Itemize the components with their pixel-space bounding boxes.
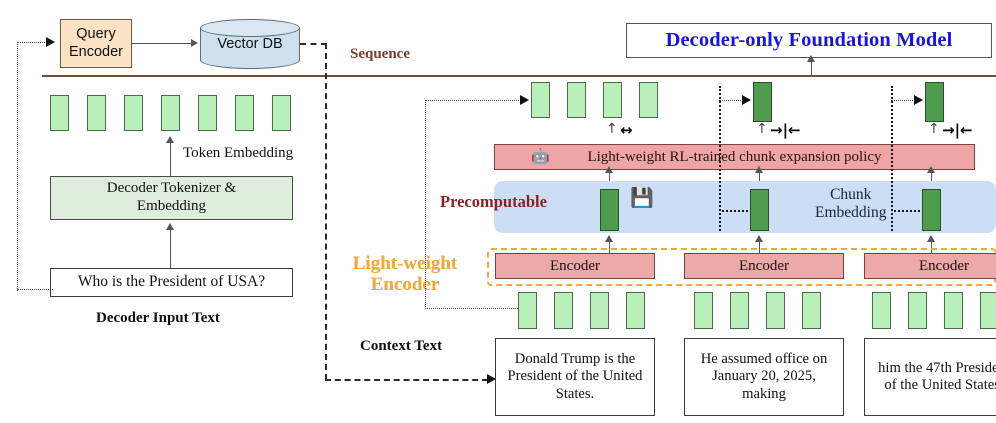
db-to-context-vertical: [325, 43, 327, 380]
query-encoder-box: Query Encoder: [60, 19, 132, 68]
token-embedding-label: Token Embedding: [183, 145, 293, 162]
decoder-token-4: [161, 95, 180, 131]
vector-db-cylinder: Vector DB: [200, 19, 300, 69]
contract-glyph-2: →|←: [770, 123, 801, 138]
context-token-2-2: [730, 292, 749, 329]
tokenizer-label-line2: Embedding: [107, 198, 236, 216]
arrow-input-up-head: [166, 223, 174, 230]
decoder-tokenizer-box: Decoder Tokenizer & Embedding: [50, 176, 293, 220]
chunk-embedding-label: Chunk Embedding: [815, 186, 886, 222]
ctx-to-sequence-dotted-1: [425, 100, 521, 101]
sequence-chunk-token-2: [753, 82, 772, 122]
context-token-1-4: [626, 292, 645, 329]
chunk-embedding-3: [922, 189, 941, 231]
arrow-enc2-to-chunk-head: [755, 235, 763, 242]
decoder-input-caption: Decoder Input Text: [96, 310, 220, 327]
decoder-input-text-box: Who is the President of USA?: [50, 268, 293, 297]
diagram-canvas: Query Encoder Vector DB Sequence Token E…: [0, 0, 996, 423]
context-text-box-2: He assumed office on January 20, 2025, m…: [684, 338, 844, 416]
context-token-1-1: [518, 292, 537, 329]
db-to-context-bottom: [325, 379, 488, 381]
lwe-bracket-bottom: [425, 308, 520, 309]
context-token-2-3: [766, 292, 785, 329]
ctx-to-sequence-dotted-3: [891, 100, 915, 101]
encoder-box-3: Encoder: [864, 253, 996, 279]
context-token-1-3: [590, 292, 609, 329]
arrow-enc3-to-chunk-head: [927, 235, 935, 242]
arrow-chunk3-to-policy-head: [927, 166, 935, 173]
arrow-enc1-to-chunk-head: [605, 235, 613, 242]
context-token-3-4: [980, 292, 996, 329]
feedback-loop-arrowhead: [46, 37, 55, 47]
lightweight-encoder-label: Light-weight Encoder: [330, 253, 480, 296]
arrow-input-up-line: [170, 228, 171, 270]
chunk-separator-2: [891, 86, 893, 231]
db-to-context-top: [300, 43, 327, 45]
context-text-box-1: Donald Trump is the President of the Uni…: [495, 338, 655, 416]
expand-glyph-1: ↔: [620, 123, 633, 138]
chunk-embedding-label-line1: Chunk: [815, 186, 886, 204]
feedback-loop-bottom: [17, 289, 53, 290]
feedback-loop-vertical: [17, 42, 18, 291]
context-token-3-1: [872, 292, 891, 329]
chunk-expansion-policy-bar: Light-weight RL-trained chunk expansion …: [494, 144, 975, 170]
lightweight-encoder-label-line2: Encoder: [330, 274, 480, 295]
arrow-sequence-to-model-head: [807, 55, 815, 62]
arrow-chunk1-to-policy-head: [605, 166, 613, 173]
query-encoder-label-line1: Query: [69, 26, 123, 43]
chunk-ellipsis-1: [722, 210, 748, 212]
ctx-to-sequence-arrow-3: [914, 95, 923, 105]
decoder-token-3: [124, 95, 143, 131]
decoder-token-7: [272, 95, 291, 131]
policy-arrow-up-3: ↑: [928, 122, 940, 136]
ctx-to-sequence-dotted-2: [719, 100, 743, 101]
arrow-query-to-db-head: [191, 39, 198, 47]
ctx-to-sequence-arrow-1: [520, 95, 529, 105]
vector-db-label: Vector DB: [200, 19, 300, 69]
decoder-token-5: [198, 95, 217, 131]
arrow-query-to-db-line: [132, 43, 192, 44]
foundation-model-title-box: Decoder-only Foundation Model: [626, 23, 992, 58]
arrow-tokenizer-up-head: [166, 136, 174, 143]
context-token-2-4: [802, 292, 821, 329]
arrow-chunk2-to-policy-head: [755, 166, 763, 173]
contract-glyph-3: →|←: [942, 123, 973, 138]
policy-label: Light-weight RL-trained chunk expansion …: [587, 149, 881, 166]
encoder-box-1: Encoder: [495, 253, 655, 279]
sequence-chunk-token-3: [925, 82, 944, 122]
sequence-label: Sequence: [350, 46, 410, 63]
policy-arrow-up-1: ↑: [606, 122, 618, 136]
context-text-caption: Context Text: [360, 338, 442, 355]
tokenizer-label-line1: Decoder Tokenizer &: [107, 180, 236, 198]
lwe-bracket-vertical: [425, 100, 426, 309]
feedback-loop-top: [17, 42, 47, 43]
sequence-token-1: [531, 82, 550, 118]
chunk-separator-1: [719, 86, 721, 231]
sequence-token-2: [567, 82, 586, 118]
precomputable-label: Precomputable: [440, 192, 547, 212]
context-text-box-3: him the 47th President of the United Sta…: [864, 338, 996, 416]
sequence-rule: [42, 75, 996, 77]
page-title: Decoder-only Foundation Model: [666, 28, 953, 52]
chunk-embedding-2: [750, 189, 769, 231]
context-token-1-2: [554, 292, 573, 329]
policy-arrow-up-2: ↑: [756, 122, 768, 136]
chunk-embedding-label-line2: Embedding: [815, 204, 886, 222]
context-token-2-1: [694, 292, 713, 329]
decoder-token-6: [235, 95, 254, 131]
chunk-ellipsis-2: [894, 210, 920, 212]
context-token-3-3: [944, 292, 963, 329]
precomputable-band: [494, 181, 996, 233]
sequence-token-3: [603, 82, 622, 118]
context-token-3-2: [908, 292, 927, 329]
ctx-to-sequence-arrow-2: [742, 95, 751, 105]
decoder-token-2: [87, 95, 106, 131]
lightweight-encoder-label-line1: Light-weight: [330, 253, 480, 274]
decoder-token-1: [50, 95, 69, 131]
encoder-box-2: Encoder: [684, 253, 844, 279]
arrow-tokenizer-up-line: [170, 140, 171, 180]
robot-icon: 🤖: [531, 149, 550, 164]
sequence-token-4: [639, 82, 658, 118]
floppy-disk-icon: 💾: [630, 189, 654, 208]
query-encoder-label-line2: Encoder: [69, 44, 123, 61]
chunk-embedding-1: [600, 189, 619, 231]
